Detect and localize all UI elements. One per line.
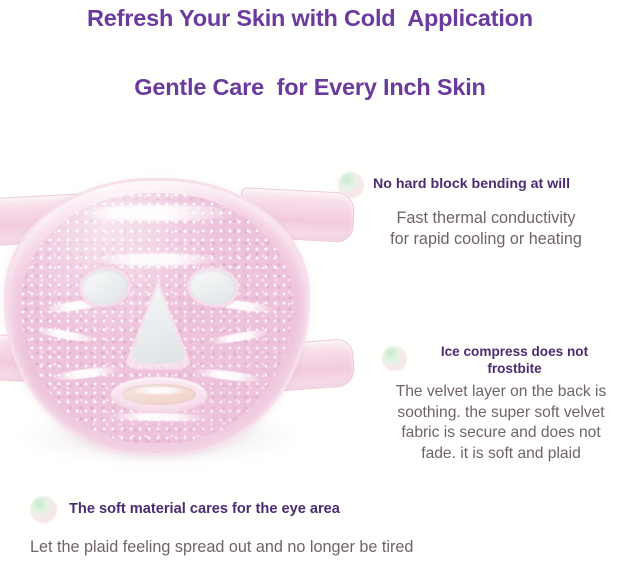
main-heading-primary: Refresh Your Skin with Cold Application	[0, 0, 620, 32]
gradient-dot-icon	[382, 346, 407, 371]
mask-body	[4, 178, 310, 456]
main-heading-secondary: Gentle Care for Every Inch Skin	[0, 32, 620, 101]
gradient-dot-icon	[30, 496, 57, 523]
callout-thermal-heading: No hard block bending at will	[373, 176, 570, 194]
callout-heading-row: Ice compress does not frostbite	[382, 344, 620, 378]
callout-frostbite-body: The velvet layer on the back is soothing…	[382, 382, 620, 464]
callout-eye-area: The soft material cares for the eye area…	[30, 496, 600, 558]
callout-eye-area-heading: The soft material cares for the eye area	[69, 500, 340, 518]
callout-heading-row: No hard block bending at will	[338, 172, 620, 198]
gradient-dot-icon	[338, 172, 364, 198]
mask-mouth-gloss	[131, 387, 187, 394]
callout-thermal-conductivity: No hard block bending at will Fast therm…	[338, 172, 620, 251]
product-image-gel-face-mask	[0, 160, 354, 485]
callout-ice-compress: Ice compress does not frostbite The velv…	[382, 344, 620, 464]
callout-frostbite-heading: Ice compress does not frostbite	[415, 344, 620, 378]
brow-highlight	[93, 253, 225, 266]
forehead-highlight	[77, 205, 241, 221]
callout-thermal-body: Fast thermal conductivity for rapid cool…	[352, 208, 620, 251]
headings-block: Refresh Your Skin with Cold Application …	[0, 0, 620, 101]
callout-eye-area-body: Let the plaid feeling spread out and no …	[30, 537, 600, 558]
callout-heading-row: The soft material cares for the eye area	[30, 496, 600, 523]
